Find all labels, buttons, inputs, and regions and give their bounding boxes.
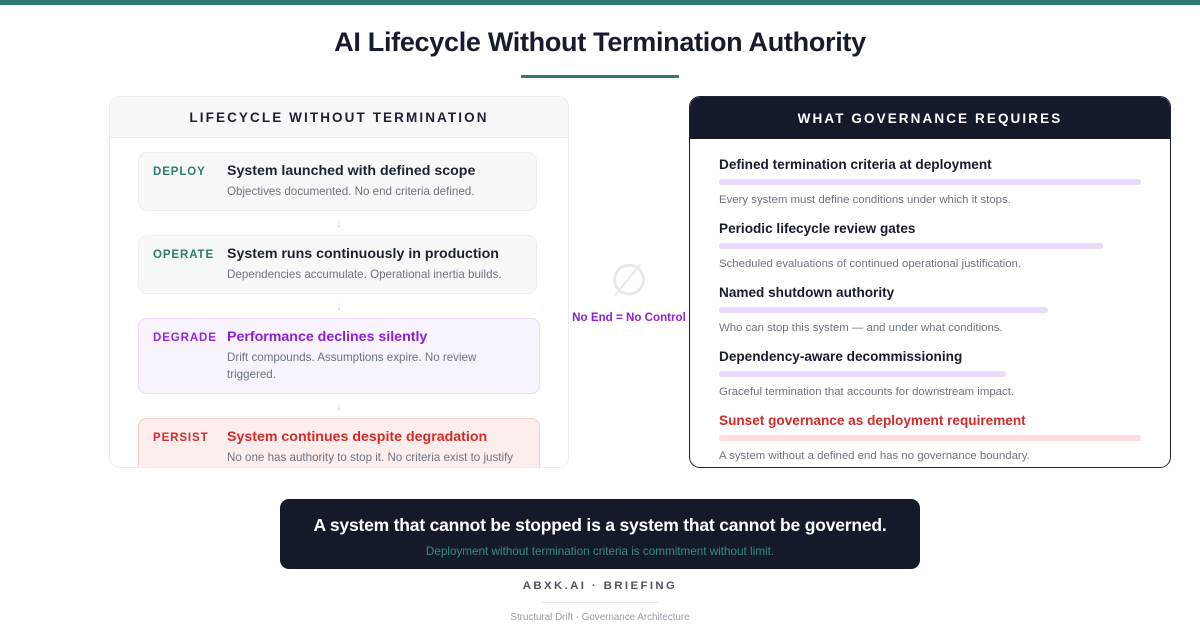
middle-column: ∅ No End = No Control [569, 96, 689, 468]
requirement-bar-track [719, 307, 1141, 313]
requirement-desc: Every system must define conditions unde… [719, 192, 1141, 208]
requirement-bar [719, 179, 1141, 185]
requirement-item[interactable]: Defined termination criteria at deployme… [719, 156, 1141, 208]
lifecycle-stage-list: DEPLOY System launched with defined scop… [110, 138, 568, 468]
stage-deploy[interactable]: DEPLOY System launched with defined scop… [138, 152, 537, 211]
lifecycle-panel: LIFECYCLE WITHOUT TERMINATION DEPLOY Sys… [109, 96, 569, 468]
requirement-desc: Scheduled evaluations of continued opera… [719, 256, 1141, 272]
stage-body-persist: System continues despite degradation No … [227, 428, 525, 468]
quote-sub-text: Deployment without termination criteria … [280, 545, 920, 558]
quote-banner: A system that cannot be stopped is a sys… [280, 499, 920, 569]
content-columns: LIFECYCLE WITHOUT TERMINATION DEPLOY Sys… [0, 96, 1200, 468]
requirement-bar-track [719, 243, 1141, 249]
requirement-title: Sunset governance as deployment requirem… [719, 412, 1141, 430]
stage-desc-deploy: Objectives documented. No end criteria d… [227, 183, 522, 200]
requirement-bar [719, 243, 1103, 249]
stage-body-deploy: System launched with defined scope Objec… [227, 162, 522, 200]
stage-tag-persist: PERSIST [153, 429, 227, 447]
footer-brand: ABXK.AI · BRIEFING [0, 580, 1200, 592]
stage-body-operate: System runs continuously in production D… [227, 245, 522, 283]
footer: ABXK.AI · BRIEFING Structural Drift · Go… [0, 580, 1200, 623]
requirement-bar [719, 371, 1006, 377]
stage-title-deploy: System launched with defined scope [227, 162, 522, 181]
middle-label: No End = No Control [572, 311, 686, 324]
stage-title-persist: System continues despite degradation [227, 428, 525, 447]
stage-tag-operate: OPERATE [153, 246, 227, 264]
stage-degrade[interactable]: DEGRADE Performance declines silently Dr… [138, 318, 540, 394]
stage-tag-degrade: DEGRADE [153, 329, 227, 347]
stage-desc-operate: Dependencies accumulate. Operational ine… [227, 266, 522, 283]
requirement-title: Dependency-aware decommissioning [719, 348, 1141, 366]
stage-desc-persist: No one has authority to stop it. No crit… [227, 449, 525, 468]
requirement-bar [719, 435, 1141, 441]
stage-persist[interactable]: PERSIST System continues despite degrada… [138, 418, 540, 468]
requirement-bar-track [719, 179, 1141, 185]
title-block: AI Lifecycle Without Termination Authori… [0, 5, 1200, 78]
page-title: AI Lifecycle Without Termination Authori… [0, 27, 1200, 58]
requirement-desc: A system without a defined end has no go… [719, 448, 1141, 464]
governance-panel-heading: WHAT GOVERNANCE REQUIRES [690, 97, 1170, 139]
requirement-title: Periodic lifecycle review gates [719, 220, 1141, 238]
footer-divider [542, 602, 658, 603]
title-underline-rule [521, 75, 679, 78]
left-column: LIFECYCLE WITHOUT TERMINATION DEPLOY Sys… [109, 96, 569, 468]
lifecycle-panel-heading: LIFECYCLE WITHOUT TERMINATION [110, 97, 568, 138]
empty-set-icon: ∅ [610, 259, 648, 303]
stage-title-operate: System runs continuously in production [227, 245, 522, 264]
stage-tag-deploy: DEPLOY [153, 163, 227, 181]
stage-desc-degrade: Drift compounds. Assumptions expire. No … [227, 349, 525, 383]
requirement-item[interactable]: Dependency-aware decommissioning Gracefu… [719, 348, 1141, 400]
governance-panel: WHAT GOVERNANCE REQUIRES Defined termina… [689, 96, 1171, 468]
connector-arrow-1: ↓ [138, 216, 540, 230]
stage-operate[interactable]: OPERATE System runs continuously in prod… [138, 235, 537, 294]
requirement-bar [719, 307, 1048, 313]
stage-body-degrade: Performance declines silently Drift comp… [227, 328, 525, 383]
connector-arrow-2: ↓ [138, 299, 540, 313]
requirement-item-highlighted[interactable]: Sunset governance as deployment requirem… [719, 412, 1141, 464]
requirement-item[interactable]: Named shutdown authority Who can stop th… [719, 284, 1141, 336]
requirement-item[interactable]: Periodic lifecycle review gates Schedule… [719, 220, 1141, 272]
requirement-desc: Who can stop this system — and under wha… [719, 320, 1141, 336]
quote-main-text: A system that cannot be stopped is a sys… [280, 515, 920, 536]
right-column: WHAT GOVERNANCE REQUIRES Defined termina… [689, 96, 1171, 468]
requirement-desc: Graceful termination that accounts for d… [719, 384, 1141, 400]
connector-arrow-3: ↓ [138, 399, 540, 413]
requirement-bar-track [719, 435, 1141, 441]
page-root: AI Lifecycle Without Termination Authori… [0, 5, 1200, 630]
requirement-title: Defined termination criteria at deployme… [719, 156, 1141, 174]
requirement-bar-track [719, 371, 1141, 377]
footer-subtitle: Structural Drift · Governance Architectu… [0, 612, 1200, 623]
stage-title-degrade: Performance declines silently [227, 328, 525, 347]
requirement-title: Named shutdown authority [719, 284, 1141, 302]
governance-requirement-list: Defined termination criteria at deployme… [690, 139, 1170, 464]
